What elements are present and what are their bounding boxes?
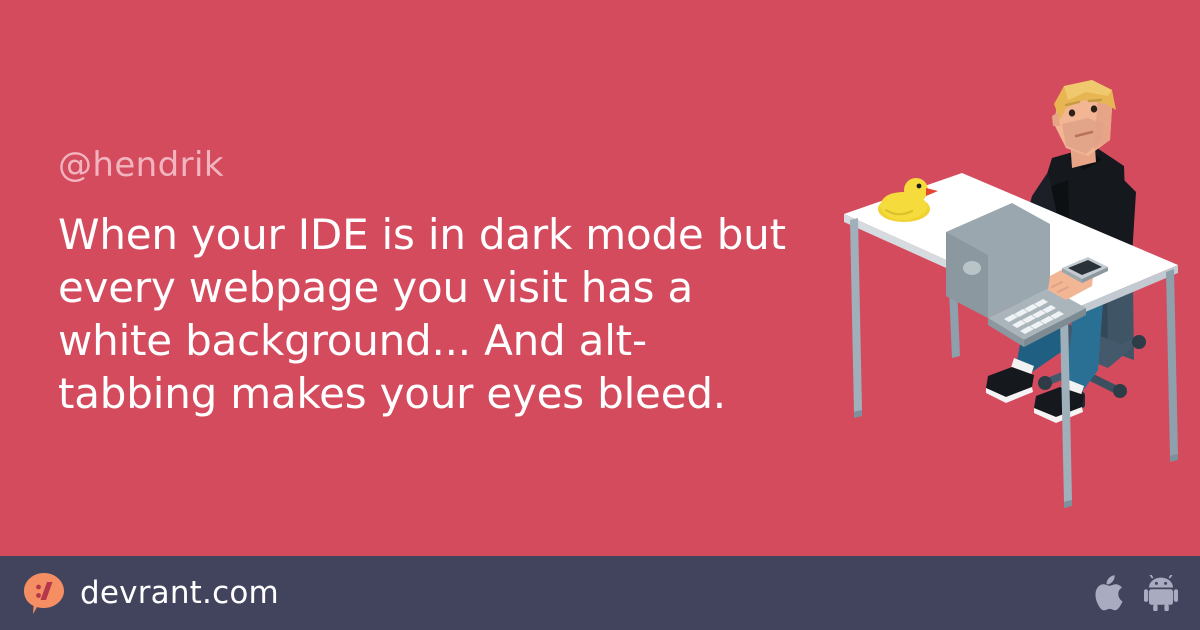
android-icon[interactable] bbox=[1144, 575, 1178, 611]
devrant-logo-icon bbox=[22, 571, 66, 615]
brand-lockup[interactable]: devrant.com bbox=[22, 571, 279, 615]
rant-content: @hendrik When your IDE is in dark mode b… bbox=[58, 148, 818, 420]
rant-username[interactable]: @hendrik bbox=[58, 148, 818, 182]
apple-icon[interactable] bbox=[1094, 575, 1124, 611]
developer-at-desk-illustration bbox=[836, 80, 1186, 530]
store-badges bbox=[1094, 575, 1178, 611]
rant-body-text: When your IDE is in dark mode but every … bbox=[58, 208, 788, 420]
brand-name-label: devrant.com bbox=[80, 578, 279, 609]
devrant-rant-card: @hendrik When your IDE is in dark mode b… bbox=[0, 0, 1200, 630]
footer-bar: devrant.com bbox=[0, 556, 1200, 630]
